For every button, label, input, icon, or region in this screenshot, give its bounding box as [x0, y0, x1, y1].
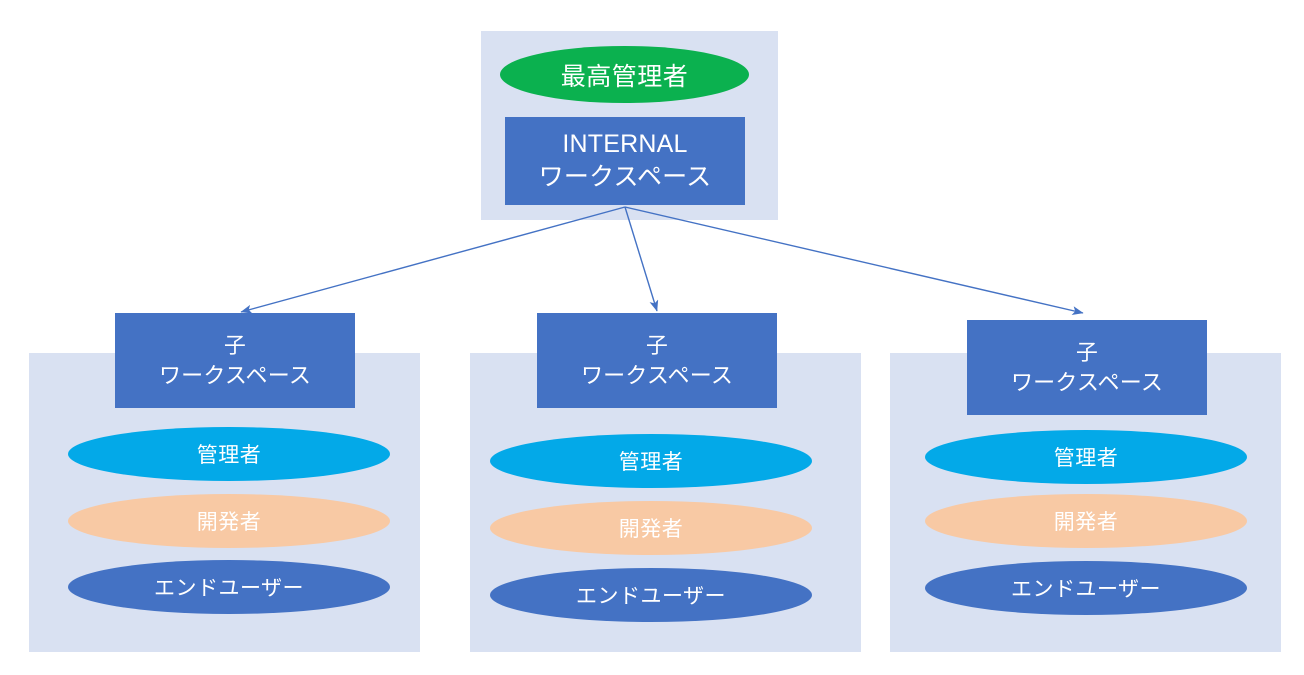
workspace-box-child-3[interactable]: 子 ワークスペース: [967, 320, 1207, 415]
role-ellipse-developer-2[interactable]: 開発者: [490, 501, 812, 555]
role-ellipse-admin-3[interactable]: 管理者: [925, 430, 1247, 484]
workspace-box-child-2[interactable]: 子 ワークスペース: [537, 313, 777, 408]
workspace-box-internal[interactable]: INTERNAL ワークスペース: [505, 117, 745, 205]
arrow-internal-to-child-1: [241, 207, 625, 312]
role-ellipse-super-admin[interactable]: 最高管理者: [500, 46, 749, 103]
role-ellipse-enduser-3[interactable]: エンドユーザー: [925, 561, 1247, 615]
role-ellipse-admin-2[interactable]: 管理者: [490, 434, 812, 488]
role-ellipse-admin-1[interactable]: 管理者: [68, 427, 390, 481]
workspace-box-child-1[interactable]: 子 ワークスペース: [115, 313, 355, 408]
role-ellipse-developer-3[interactable]: 開発者: [925, 494, 1247, 548]
role-ellipse-enduser-1[interactable]: エンドユーザー: [68, 560, 390, 614]
role-ellipse-enduser-2[interactable]: エンドユーザー: [490, 568, 812, 622]
arrow-internal-to-child-2: [625, 207, 657, 311]
org-hierarchy-diagram: 最高管理者 INTERNAL ワークスペース 子 ワークスペース 管理者 開発者…: [0, 0, 1304, 675]
arrow-internal-to-child-3: [625, 207, 1083, 313]
role-ellipse-developer-1[interactable]: 開発者: [68, 494, 390, 548]
